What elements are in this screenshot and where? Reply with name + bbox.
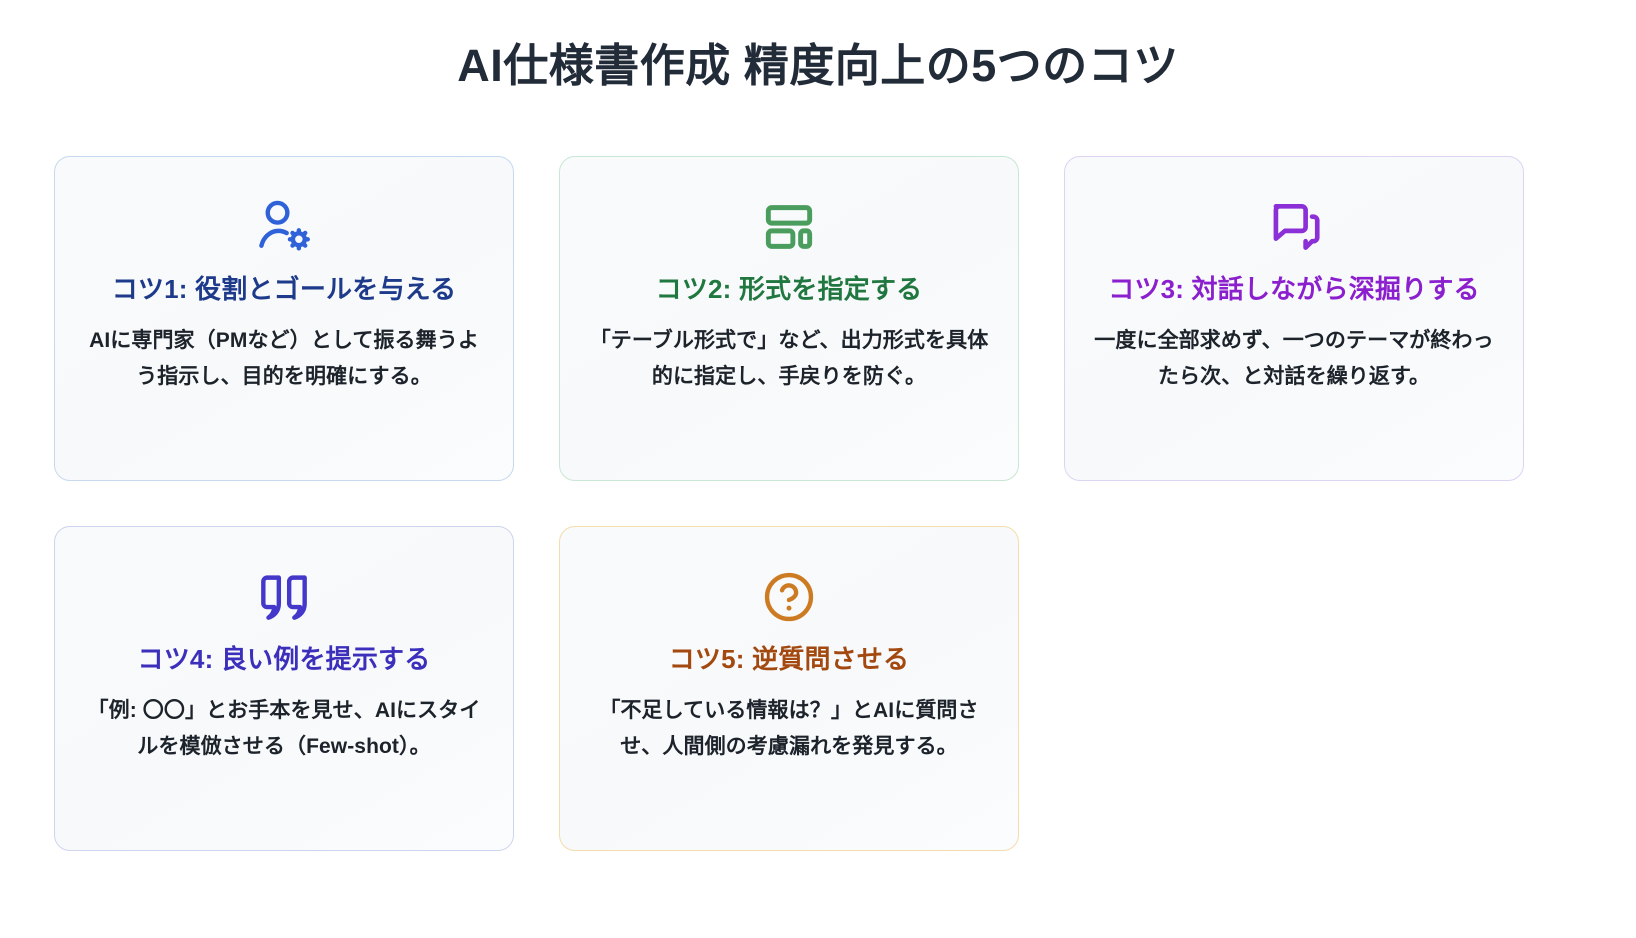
tip-card-description: 一度に全部求めず、一つのテーマが終わったら次、と対話を繰り返す。	[1093, 323, 1495, 395]
tip-card-1[interactable]: コツ1: 役割とゴールを与える AIに専門家（PMなど）として振る舞うよう指示し…	[54, 156, 514, 481]
page-title: AI仕様書作成 精度向上の5つのコツ	[54, 38, 1582, 94]
tip-card-title: コツ1: 役割とゴールを与える	[112, 271, 457, 309]
layout-template-icon	[758, 191, 820, 263]
tip-card-5[interactable]: コツ5: 逆質問させる 「不足している情報は？」とAIに質問させ、人間側の考慮漏…	[559, 526, 1019, 851]
tip-card-title: コツ4: 良い例を提示する	[138, 641, 431, 679]
chat-bubbles-icon	[1263, 191, 1325, 263]
tip-card-description: 「例: 〇〇」とお手本を見せ、AIにスタイルを模倣させる（Few-shot）。	[83, 693, 485, 765]
tip-card-2[interactable]: コツ2: 形式を指定する 「テーブル形式で」など、出力形式を具体的に指定し、手戻…	[559, 156, 1019, 481]
tip-card-title: コツ5: 逆質問させる	[669, 641, 910, 679]
tip-card-description: 「テーブル形式で」など、出力形式を具体的に指定し、手戻りを防ぐ。	[588, 323, 990, 395]
slide-root: AI仕様書作成 精度向上の5つのコツ コツ1: 役割とゴールを与える AIに専門…	[0, 0, 1636, 938]
user-settings-icon	[253, 191, 315, 263]
tip-card-description: AIに専門家（PMなど）として振る舞うよう指示し、目的を明確にする。	[83, 323, 485, 395]
tip-card-title: コツ2: 形式を指定する	[656, 271, 923, 309]
tip-card-description: 「不足している情報は？」とAIに質問させ、人間側の考慮漏れを発見する。	[588, 693, 990, 765]
tip-card-3[interactable]: コツ3: 対話しながら深掘りする 一度に全部求めず、一つのテーマが終わったら次、…	[1064, 156, 1524, 481]
tip-card-title: コツ3: 対話しながら深掘りする	[1108, 271, 1480, 309]
question-circle-icon	[758, 561, 820, 633]
tips-card-grid: コツ1: 役割とゴールを与える AIに専門家（PMなど）として振る舞うよう指示し…	[54, 156, 1582, 851]
quote-marks-icon	[253, 561, 315, 633]
tip-card-4[interactable]: コツ4: 良い例を提示する 「例: 〇〇」とお手本を見せ、AIにスタイルを模倣さ…	[54, 526, 514, 851]
